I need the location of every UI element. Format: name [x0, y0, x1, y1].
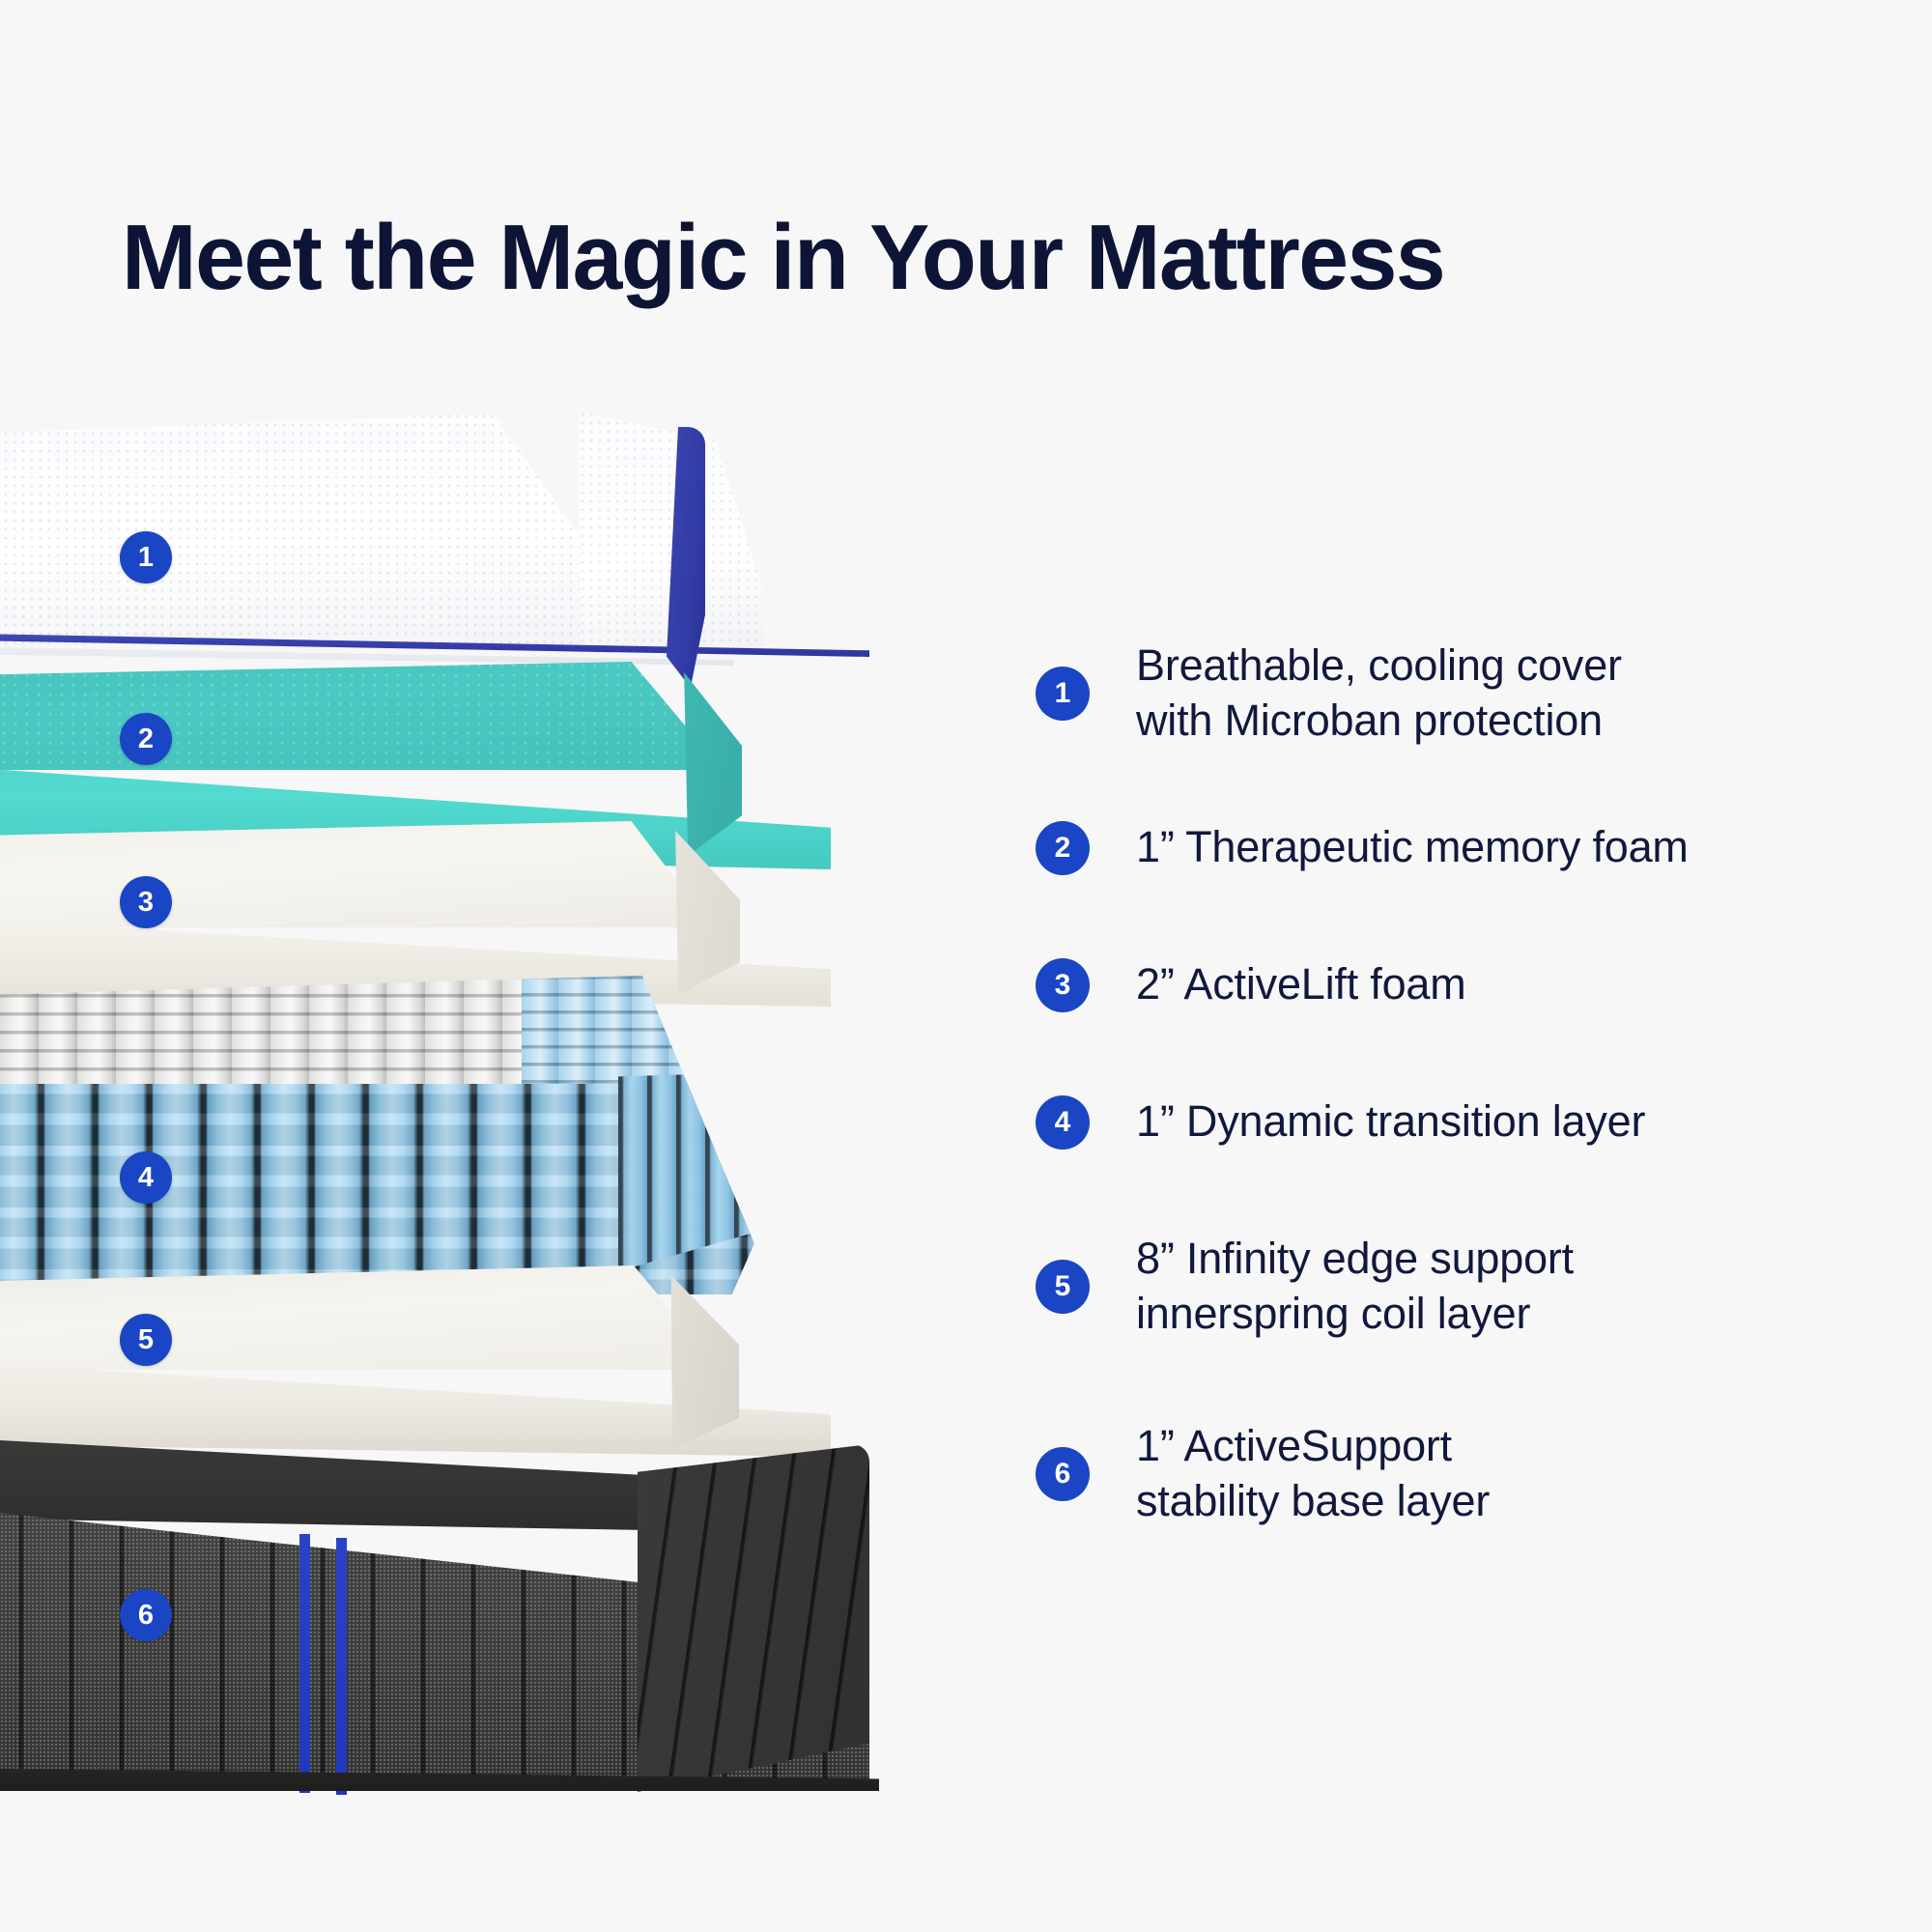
legend-badge-2: 2: [1036, 821, 1090, 875]
legend-badge-6: 6: [1036, 1447, 1090, 1501]
infographic-canvas: Meet the Magic in Your Mattress: [0, 0, 1932, 1932]
mattress-illustration: 1 2 3 4 5 6: [0, 406, 927, 1855]
callout-badge-5[interactable]: 5: [120, 1314, 172, 1366]
legend-label-2: 1” Therapeutic memory foam: [1136, 819, 1689, 874]
legend-badge-4: 4: [1036, 1095, 1090, 1150]
coil-side-face: [618, 1068, 889, 1271]
callout-badge-3[interactable]: 3: [120, 876, 172, 928]
base-blue-stripe: [299, 1534, 310, 1793]
callout-badge-4[interactable]: 4: [120, 1151, 172, 1204]
legend-item-6[interactable]: 6 1” ActiveSupport stability base layer: [1036, 1418, 1490, 1528]
legend-badge-3: 3: [1036, 958, 1090, 1012]
callout-badge-6[interactable]: 6: [120, 1589, 172, 1641]
legend-item-4[interactable]: 4 1” Dynamic transition layer: [1036, 1094, 1645, 1150]
base-blue-stripe: [336, 1538, 347, 1795]
legend-label-1: Breathable, cooling cover with Microban …: [1136, 638, 1622, 748]
legend-item-5[interactable]: 5 8” Infinity edge support innerspring c…: [1036, 1231, 1574, 1341]
legend-item-3[interactable]: 3 2” ActiveLift foam: [1036, 956, 1466, 1012]
callout-badge-1[interactable]: 1: [120, 531, 172, 583]
legend-item-2[interactable]: 2 1” Therapeutic memory foam: [1036, 819, 1689, 875]
legend-label-5: 8” Infinity edge support innerspring coi…: [1136, 1231, 1574, 1341]
callout-badge-2[interactable]: 2: [120, 713, 172, 765]
mattress-layer-coils: [0, 976, 889, 1294]
stability-foam-side: [662, 1275, 739, 1449]
base-side-face: [638, 1444, 869, 1792]
legend-badge-1: 1: [1036, 667, 1090, 721]
legend-item-1[interactable]: 1 Breathable, cooling cover with Microba…: [1036, 638, 1622, 748]
legend-badge-5: 5: [1036, 1260, 1090, 1314]
legend-label-4: 1” Dynamic transition layer: [1136, 1094, 1645, 1149]
legend-label-3: 2” ActiveLift foam: [1136, 956, 1466, 1011]
page-title: Meet the Magic in Your Mattress: [122, 207, 1444, 309]
legend-label-6: 1” ActiveSupport stability base layer: [1136, 1418, 1490, 1528]
